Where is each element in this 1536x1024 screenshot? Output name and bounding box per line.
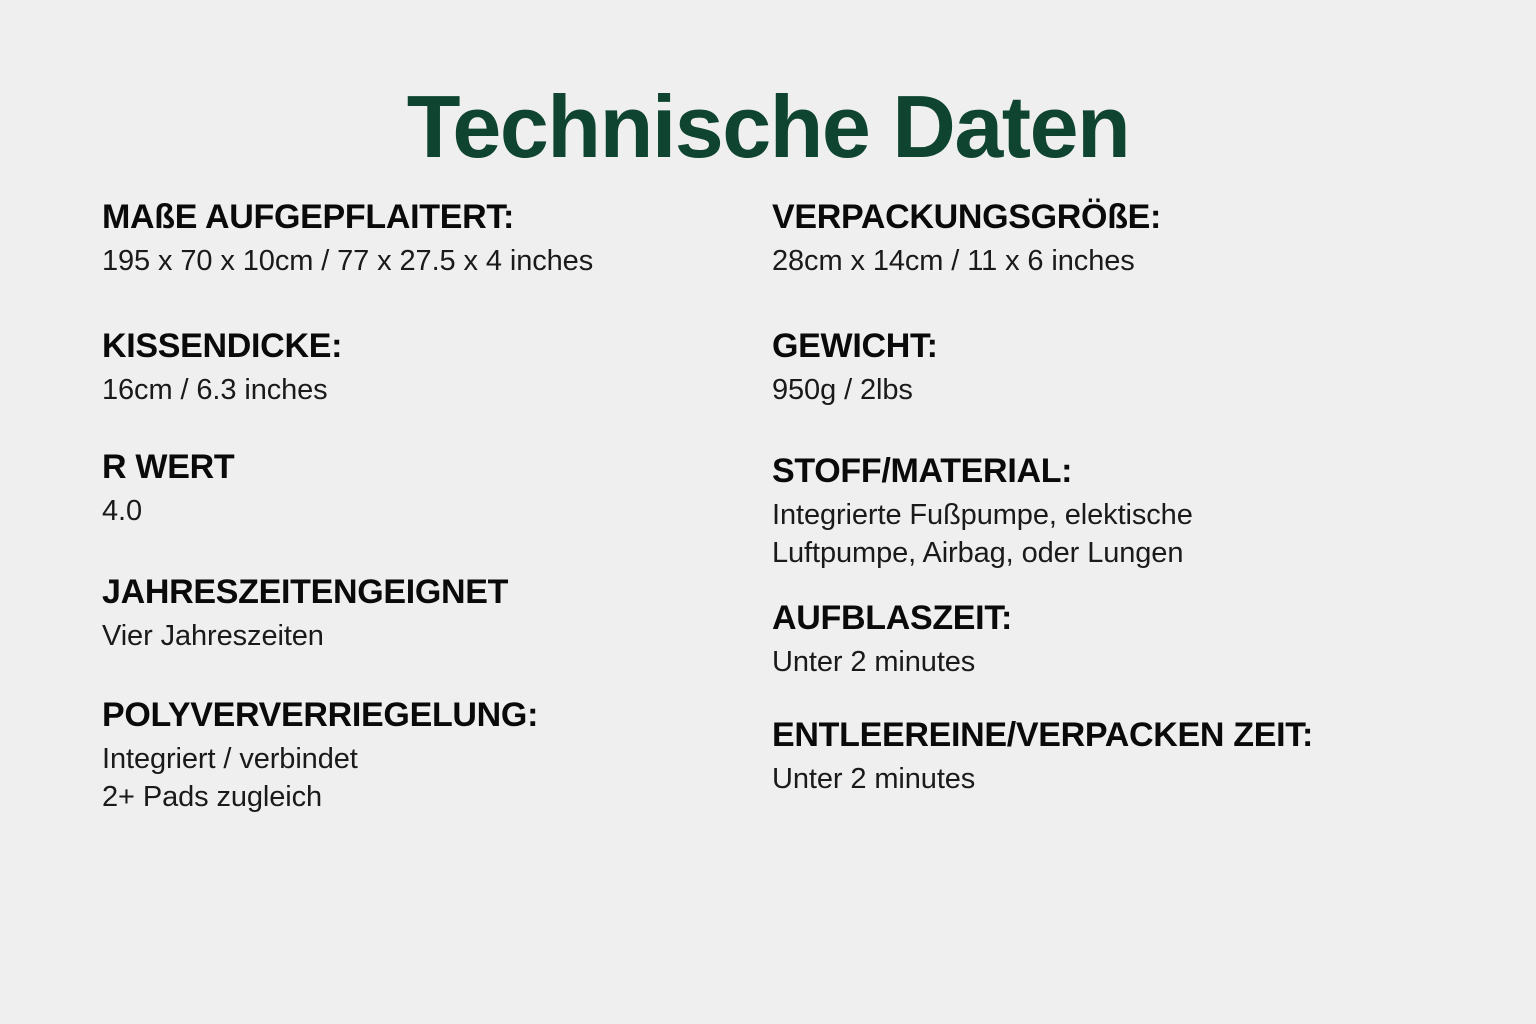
spec-heading: JAHRESZEITENGEIGNET	[102, 571, 716, 613]
spec-item: R WERT 4.0	[102, 446, 716, 531]
spec-item: VERPACKUNGSGRÖßE: 28cm x 14cm / 11 x 6 i…	[772, 196, 1476, 281]
spec-item: GEWICHT: 950g / 2lbs	[772, 325, 1476, 410]
spec-value: 950g / 2lbs	[772, 371, 1476, 410]
spec-value: 4.0	[102, 492, 716, 531]
spec-item: KISSENDICKE: 16cm / 6.3 inches	[102, 325, 716, 410]
spec-item: JAHRESZEITENGEIGNET Vier Jahreszeiten	[102, 571, 716, 656]
spec-item: ENTLEEREINE/VERPACKEN ZEIT: Unter 2 minu…	[772, 714, 1476, 799]
spec-heading: KISSENDICKE:	[102, 325, 716, 367]
spec-heading: R WERT	[102, 446, 716, 488]
spec-column-left: MAßE AUFGEPFLAITERT: 195 x 70 x 10cm / 7…	[0, 196, 736, 851]
spec-column-right: VERPACKUNGSGRÖßE: 28cm x 14cm / 11 x 6 i…	[736, 196, 1536, 833]
spec-heading: VERPACKUNGSGRÖßE:	[772, 196, 1476, 238]
spec-value: 2+ Pads zugleich	[102, 778, 716, 817]
spec-heading: ENTLEEREINE/VERPACKEN ZEIT:	[772, 714, 1476, 756]
spec-value: Vier Jahreszeiten	[102, 617, 716, 656]
spec-value: Unter 2 minutes	[772, 643, 1476, 682]
spec-value: 16cm / 6.3 inches	[102, 371, 716, 410]
spec-item: MAßE AUFGEPFLAITERT: 195 x 70 x 10cm / 7…	[102, 196, 716, 281]
spec-heading: GEWICHT:	[772, 325, 1476, 367]
spec-value: Integriert / verbindet	[102, 740, 716, 779]
spec-value: 28cm x 14cm / 11 x 6 inches	[772, 242, 1476, 281]
spec-columns: MAßE AUFGEPFLAITERT: 195 x 70 x 10cm / 7…	[0, 196, 1536, 996]
spec-sheet-page: Technische Daten MAßE AUFGEPFLAITERT: 19…	[0, 0, 1536, 1024]
page-title: Technische Daten	[0, 73, 1536, 181]
spec-item: POLYVERVERRIEGELUNG: Integriert / verbin…	[102, 694, 716, 817]
spec-heading: POLYVERVERRIEGELUNG:	[102, 694, 716, 736]
spec-heading: STOFF/MATERIAL:	[772, 450, 1476, 492]
spec-heading: MAßE AUFGEPFLAITERT:	[102, 196, 716, 238]
spec-item: STOFF/MATERIAL: Integrierte Fußpumpe, el…	[772, 450, 1476, 573]
spec-value: 195 x 70 x 10cm / 77 x 27.5 x 4 inches	[102, 242, 716, 281]
spec-heading: AUFBLASZEIT:	[772, 597, 1476, 639]
spec-value: Luftpumpe, Airbag, oder Lungen	[772, 534, 1476, 573]
spec-value: Unter 2 minutes	[772, 760, 1476, 799]
spec-item: AUFBLASZEIT: Unter 2 minutes	[772, 597, 1476, 682]
spec-value: Integrierte Fußpumpe, elektische	[772, 496, 1476, 535]
